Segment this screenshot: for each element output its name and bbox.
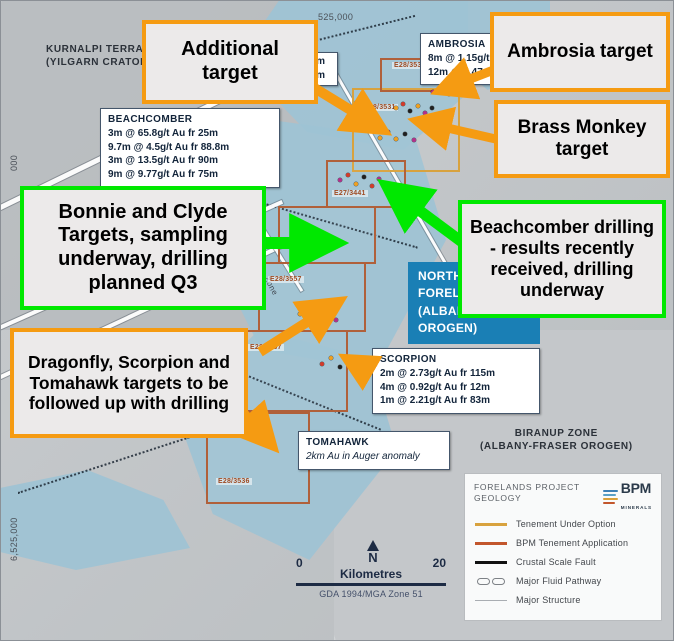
legend-swatch-major-fluid-pathway — [474, 578, 508, 585]
legend-swatch-tenement-under-option — [474, 523, 508, 526]
bpm-logo-text: BPM MINERALS — [621, 481, 652, 513]
prospect-box-scorpion: SCORPION 2m @ 2.73g/t Au fr 115m 4m @ 0.… — [372, 348, 540, 414]
prospect-result-scorpion-1: 4m @ 0.92g/t Au fr 12m — [380, 381, 532, 395]
legend-label-bpm-tenement-application: BPM Tenement Application — [516, 538, 628, 548]
tenement-polygon-e28-3543 — [278, 206, 376, 264]
coordinate-top-easting: 525,000 — [318, 12, 353, 22]
scale-min: 0 — [296, 556, 303, 570]
prospect-result-beachcomber-1: 9.7m @ 4.5g/t Au fr 88.8m — [108, 141, 272, 155]
prospect-result-beachcomber-0: 3m @ 65.8g/t Au fr 25m — [108, 127, 272, 141]
prospect-result-beachcomber-2: 3m @ 13.5g/t Au fr 90m — [108, 154, 272, 168]
drill-cluster-tomahawk — [248, 428, 292, 454]
scale-max: 20 — [433, 556, 446, 570]
callout-beachcomber-drilling[interactable]: Beachcomber drilling - results recently … — [458, 200, 666, 318]
tenement-id-3: E28/3543 — [286, 238, 322, 245]
prospect-result-tomahawk-0: 2km Au in Auger anomaly — [306, 450, 442, 464]
drill-cluster-scorpion — [318, 352, 362, 378]
legend-label-major-structure: Major Structure — [516, 595, 581, 605]
scale-numbers: 0 20 — [296, 556, 446, 569]
tenement-id-6: E28/3536 — [216, 478, 252, 485]
prospect-result-beachcomber-3: 9m @ 9.77g/t Au fr 75m — [108, 168, 272, 182]
mining-exploration-map: Coolgardie Shear Zone 525,000 000 6,525,… — [0, 0, 674, 641]
legend-item-major-fluid-pathway: Major Fluid Pathway — [474, 572, 652, 591]
prospect-title-beachcomber: BEACHCOMBER — [108, 113, 272, 127]
legend-items: Tenement Under Option BPM Tenement Appli… — [474, 515, 652, 610]
legend-label-major-fluid-pathway: Major Fluid Pathway — [516, 576, 601, 586]
prospect-result-scorpion-0: 2m @ 2.73g/t Au fr 115m — [380, 367, 532, 381]
tenement-id-4: E28/3557 — [268, 276, 304, 283]
prospect-box-tomahawk: TOMAHAWK 2km Au in Auger anomaly — [298, 431, 450, 470]
coordinate-left-upper: 000 — [9, 155, 19, 171]
drill-cluster-brass-monkey — [430, 82, 464, 108]
bpm-logo-line1: BPM — [621, 480, 651, 496]
map-datum: GDA 1994/MGA Zone 51 — [296, 589, 446, 599]
callout-dragonfly-scorpion-tomahawk[interactable]: Dragonfly, Scorpion and Tomahawk targets… — [10, 328, 248, 438]
callout-ambrosia-target[interactable]: Ambrosia target — [490, 12, 670, 92]
legend-swatch-bpm-tenement-application — [474, 542, 508, 545]
bpm-logo-mark-icon — [603, 490, 618, 505]
prospect-title-scorpion: SCORPION — [380, 353, 532, 367]
legend-label-crustal-scale-fault: Crustal Scale Fault — [516, 557, 596, 567]
callout-additional-target[interactable]: Additional target — [142, 20, 318, 104]
zone-label-biranup-line2: (ALBANY-FRASER OROGEN) — [480, 441, 633, 454]
zone-label-biranup-line1: BIRANUP ZONE — [480, 428, 633, 441]
drill-cluster-additional — [376, 126, 426, 150]
scale-units: Kilometres — [296, 567, 446, 581]
legend-item-bpm-tenement-application: BPM Tenement Application — [474, 534, 652, 553]
prospect-result-scorpion-2: 1m @ 2.21g/t Au fr 83m — [380, 394, 532, 408]
legend-item-crustal-scale-fault: Crustal Scale Fault — [474, 553, 652, 572]
scale-bar: 0 20 Kilometres GDA 1994/MGA Zone 51 — [296, 556, 446, 599]
fluid-pathway-icon — [477, 578, 505, 585]
prospect-box-beachcomber: BEACHCOMBER 3m @ 65.8g/t Au fr 25m 9.7m … — [100, 108, 280, 188]
tenement-id-5: E28/3537 — [248, 344, 284, 351]
legend-swatch-major-structure — [474, 600, 508, 601]
map-legend: FORELANDS PROJECT GEOLOGY BPM MINERALS T… — [464, 473, 662, 621]
zone-label-biranup: BIRANUP ZONE (ALBANY-FRASER OROGEN) — [480, 428, 633, 453]
drill-cluster-bonnie-clyde — [296, 300, 346, 332]
callout-brass-monkey-target[interactable]: Brass Monkey target — [494, 100, 670, 178]
legend-item-tenement-under-option: Tenement Under Option — [474, 515, 652, 534]
coordinate-left-northing: 6,525,000 — [9, 517, 19, 561]
bpm-logo-line2: MINERALS — [621, 505, 652, 510]
callout-bonnie-and-clyde[interactable]: Bonnie and Clyde Targets, sampling under… — [20, 186, 266, 310]
drill-cluster-beachcomber — [336, 170, 384, 198]
bpm-minerals-logo: BPM MINERALS — [603, 481, 652, 513]
legend-label-tenement-under-option: Tenement Under Option — [516, 519, 616, 529]
scale-bar-line — [296, 583, 446, 586]
legend-swatch-crustal-scale-fault — [474, 561, 508, 564]
legend-item-major-structure: Major Structure — [474, 591, 652, 610]
prospect-title-tomahawk: TOMAHAWK — [306, 436, 442, 450]
